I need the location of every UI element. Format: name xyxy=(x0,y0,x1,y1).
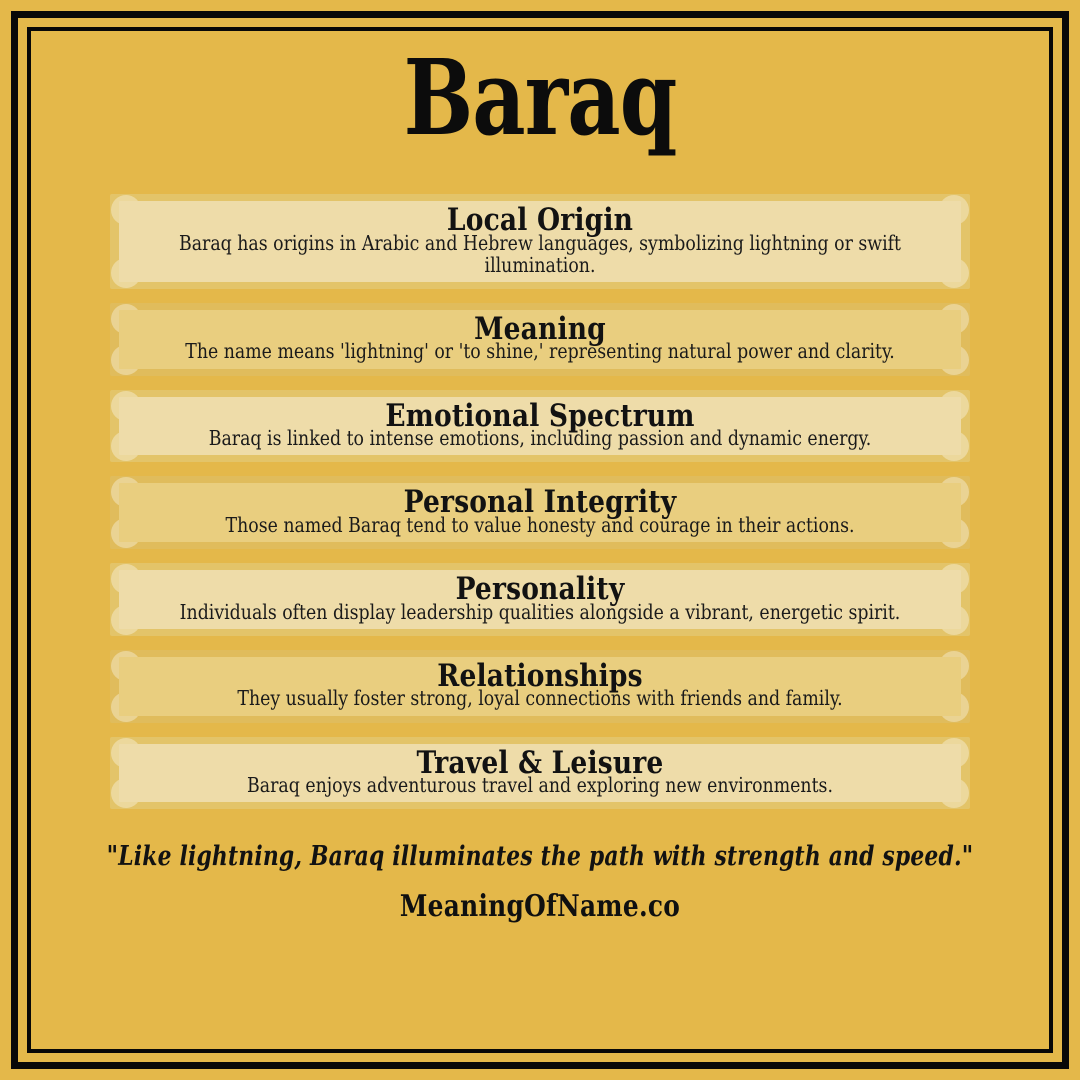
section-card-panel: PersonalityIndividuals often display lea… xyxy=(119,570,961,629)
section-body: Baraq is linked to intense emotions, inc… xyxy=(157,427,922,449)
poster-content: Baraq Local OriginBaraq has origins in A… xyxy=(40,34,1040,1046)
section-body: The name means 'lightning' or 'to shine,… xyxy=(157,340,922,362)
poster-footer: "Like lightning, Baraq illuminates the p… xyxy=(40,841,1040,924)
section-card-panel: RelationshipsThey usually foster strong,… xyxy=(119,657,961,716)
section-body: Baraq enjoys adventurous travel and expl… xyxy=(157,774,922,796)
section-card-panel: Emotional SpectrumBaraq is linked to int… xyxy=(119,397,961,456)
page-title: Baraq xyxy=(100,46,980,150)
section-card: Travel & LeisureBaraq enjoys adventurous… xyxy=(110,737,970,810)
section-card-panel: Personal IntegrityThose named Baraq tend… xyxy=(119,483,961,542)
section-card: PersonalityIndividuals often display lea… xyxy=(110,563,970,636)
section-body: Individuals often display leadership qua… xyxy=(157,601,922,623)
section-card-panel: Local OriginBaraq has origins in Arabic … xyxy=(119,201,961,282)
section-card: Emotional SpectrumBaraq is linked to int… xyxy=(110,390,970,463)
section-card-panel: Travel & LeisureBaraq enjoys adventurous… xyxy=(119,744,961,803)
section-card-panel: MeaningThe name means 'lightning' or 'to… xyxy=(119,310,961,369)
section-card: Local OriginBaraq has origins in Arabic … xyxy=(110,194,970,289)
footer-quote: "Like lightning, Baraq illuminates the p… xyxy=(90,841,990,872)
section-body: They usually foster strong, loyal connec… xyxy=(157,687,922,709)
poster-root: Baraq Local OriginBaraq has origins in A… xyxy=(0,0,1080,1080)
section-body: Those named Baraq tend to value honesty … xyxy=(157,514,922,536)
section-card-list: Local OriginBaraq has origins in Arabic … xyxy=(40,194,1040,809)
section-body: Baraq has origins in Arabic and Hebrew l… xyxy=(157,232,922,276)
section-card: RelationshipsThey usually foster strong,… xyxy=(110,650,970,723)
section-card: Personal IntegrityThose named Baraq tend… xyxy=(110,476,970,549)
section-card: MeaningThe name means 'lightning' or 'to… xyxy=(110,303,970,376)
brand-name: MeaningOfName.co xyxy=(80,889,1000,924)
